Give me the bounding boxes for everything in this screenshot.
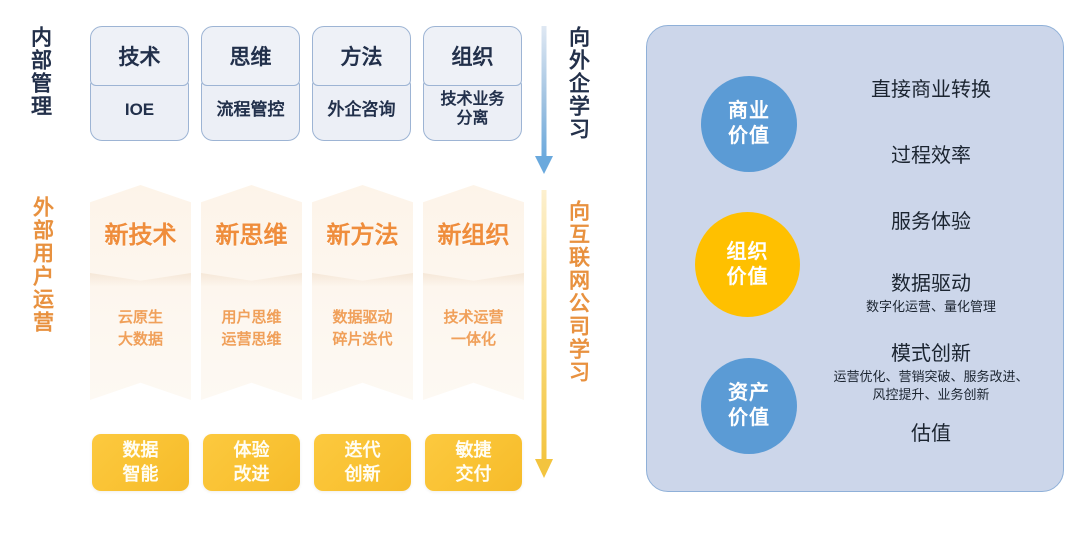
outcome-pill-4[interactable]: 敏捷 交付	[425, 434, 522, 491]
value-item-5-sub: 运营优化、营销突破、服务改进、 风控提升、业务创新	[807, 368, 1055, 403]
value-item-2: 过程效率	[807, 144, 1055, 169]
value-circle-organization[interactable]: 组织 价值	[695, 212, 800, 317]
arrow-label-learn-from-internet-companies: 向互联网公司学习	[566, 200, 590, 450]
value-item-2-main: 过程效率	[807, 144, 1055, 169]
value-circle-business[interactable]: 商业 价值	[701, 76, 797, 172]
banner-3-subtitle: 数据驱动 碎片迭代	[312, 307, 413, 351]
top-card-4-title: 组织	[423, 26, 522, 86]
value-item-6-main: 估值	[807, 422, 1055, 447]
banner-4-title: 新组织	[423, 215, 524, 250]
banner-4-subtitle: 技术运营 一体化	[423, 307, 524, 351]
banner-3-title: 新方法	[312, 215, 413, 250]
top-card-4[interactable]: 组织 技术业务 分离	[423, 26, 524, 141]
value-item-4-sub: 数字化运营、量化管理	[807, 298, 1055, 316]
section-label-external-user-operation: 外部用户运营	[30, 196, 54, 396]
value-panel: 商业 价值 组织 价值 资产 价值 直接商业转换 过程效率 服务体验 数据驱动 …	[646, 25, 1064, 492]
value-item-3: 服务体验	[807, 210, 1055, 235]
section-label-internal-management: 内部管理	[28, 26, 52, 146]
top-card-2-title: 思维	[201, 26, 300, 86]
top-card-1[interactable]: 技术 IOE	[90, 26, 191, 141]
banner-4[interactable]: 新组织 技术运营 一体化	[423, 185, 524, 400]
banner-1-subtitle: 云原生 大数据	[90, 307, 191, 351]
top-card-3-title: 方法	[312, 26, 411, 86]
banner-2-title: 新思维	[201, 215, 302, 250]
top-card-2-subtitle: 流程管控	[201, 79, 300, 141]
down-arrow-blue-icon	[533, 26, 555, 174]
arrow-blue-head	[535, 156, 553, 174]
outcome-pill-1[interactable]: 数据 智能	[92, 434, 189, 491]
value-item-5-main: 模式创新	[807, 342, 1055, 367]
value-item-6: 估值	[807, 422, 1055, 447]
value-item-1-main: 直接商业转换	[807, 78, 1055, 103]
outcome-pill-2[interactable]: 体验 改进	[203, 434, 300, 491]
value-item-1: 直接商业转换	[807, 78, 1055, 103]
arrow-gold-stem	[542, 190, 547, 462]
top-card-4-subtitle: 技术业务 分离	[423, 79, 522, 141]
value-item-4-main: 数据驱动	[807, 272, 1055, 297]
banner-3[interactable]: 新方法 数据驱动 碎片迭代	[312, 185, 413, 400]
banner-2-subtitle: 用户思维 运营思维	[201, 307, 302, 351]
arrow-blue-stem	[542, 26, 547, 159]
top-card-1-title: 技术	[90, 26, 189, 86]
top-card-2[interactable]: 思维 流程管控	[201, 26, 302, 141]
down-arrow-gold-icon	[533, 190, 555, 480]
top-card-3-subtitle: 外企咨询	[312, 79, 411, 141]
value-item-5: 模式创新 运营优化、营销突破、服务改进、 风控提升、业务创新	[807, 342, 1055, 403]
banner-2[interactable]: 新思维 用户思维 运营思维	[201, 185, 302, 400]
top-card-3[interactable]: 方法 外企咨询	[312, 26, 413, 141]
diagram-canvas: 内部管理 外部用户运营 技术 IOE 思维 流程管控 方法 外企咨询 组织 技术…	[0, 0, 1080, 536]
value-item-4: 数据驱动 数字化运营、量化管理	[807, 272, 1055, 316]
value-circle-asset[interactable]: 资产 价值	[701, 358, 797, 454]
value-item-3-main: 服务体验	[807, 210, 1055, 235]
top-card-1-subtitle: IOE	[90, 79, 189, 141]
outcome-pill-3[interactable]: 迭代 创新	[314, 434, 411, 491]
arrow-label-learn-from-foreign-enterprises: 向外企学习	[566, 26, 590, 166]
banner-1[interactable]: 新技术 云原生 大数据	[90, 185, 191, 400]
banner-1-title: 新技术	[90, 215, 191, 250]
arrow-gold-head	[535, 459, 553, 478]
